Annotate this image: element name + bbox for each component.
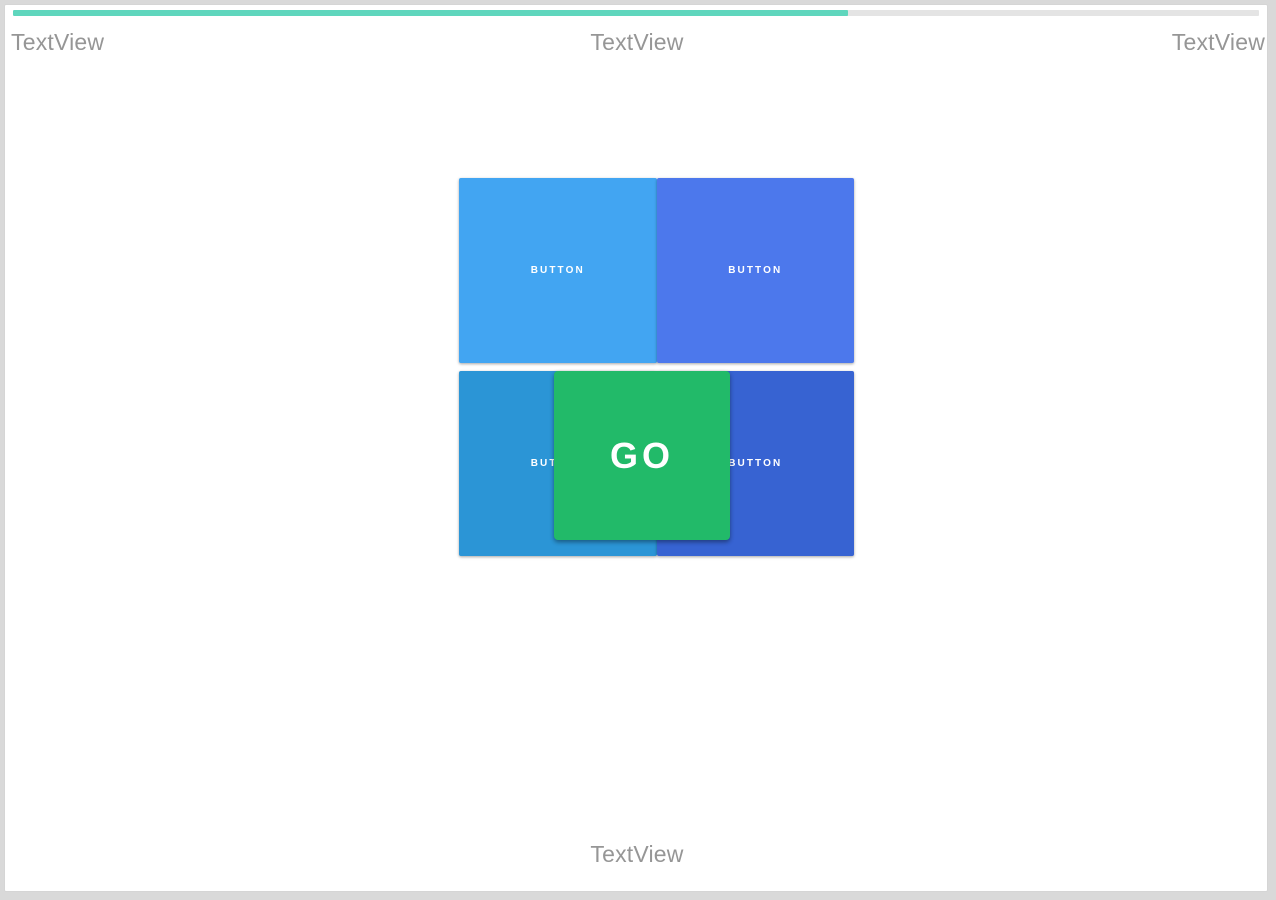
header-textview-center: TextView xyxy=(590,29,683,56)
go-button[interactable]: GO xyxy=(554,371,730,540)
header-textview-right: TextView xyxy=(1172,29,1265,56)
footer-row: TextView xyxy=(5,841,1268,881)
dpad-button-top-right[interactable]: BUTTON xyxy=(657,178,855,363)
go-button-label: GO xyxy=(610,435,674,477)
dpad-button-top-left-label: BUTTON xyxy=(531,265,585,276)
dpad-button-top-left[interactable]: BUTTON xyxy=(459,178,657,363)
dpad-button-bottom-right-label: BUTTON xyxy=(728,458,782,469)
progress-bar-fill xyxy=(13,10,848,16)
dpad-row-top: BUTTON BUTTON xyxy=(459,178,854,363)
header-row: TextView TextView TextView xyxy=(5,23,1268,65)
header-textview-left: TextView xyxy=(11,29,104,56)
top-progress-bar xyxy=(13,10,1259,16)
dpad-button-top-right-label: BUTTON xyxy=(728,265,782,276)
app-window: TextView TextView TextView BUTTON BUTTON… xyxy=(4,4,1268,892)
footer-textview: TextView xyxy=(590,841,683,868)
